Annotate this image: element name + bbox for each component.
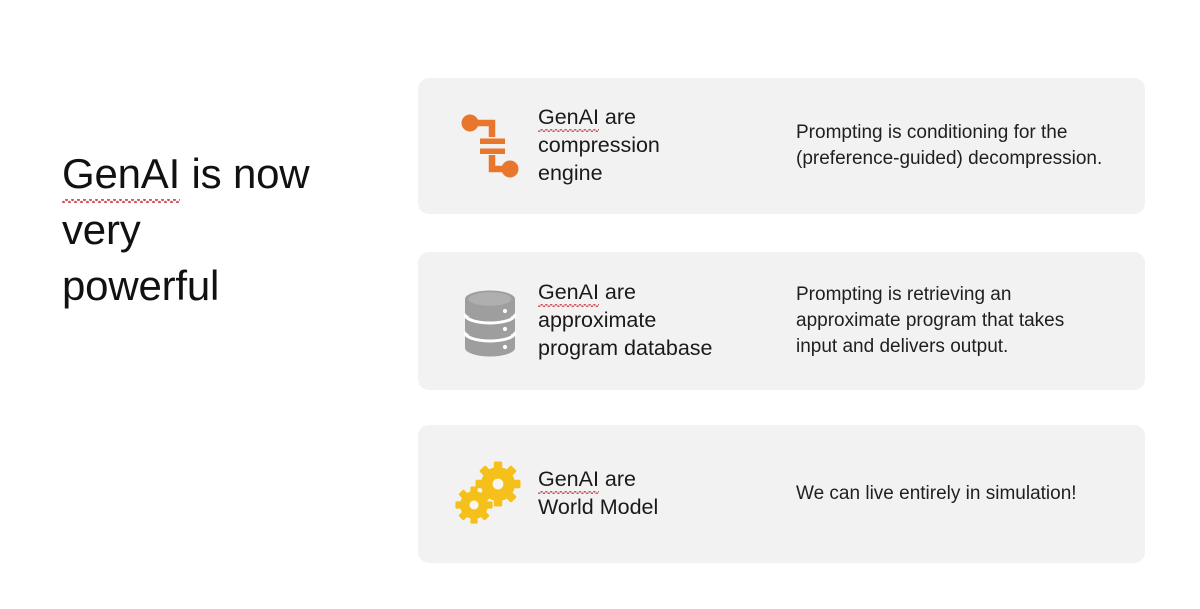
page-title-spellchecked-word: GenAI (62, 146, 180, 202)
card-heading: GenAI are approximate program database (538, 279, 796, 363)
card-world-model[interactable]: GenAI are World Model We can live entire… (418, 425, 1145, 563)
card-icon-slot (418, 112, 538, 180)
card-heading-spellchecked-word: GenAI (538, 466, 599, 494)
card-heading: GenAI are compression engine (538, 104, 796, 188)
card-heading-spellchecked-word: GenAI (538, 279, 599, 307)
card-heading-spellchecked-word: GenAI (538, 104, 599, 132)
card-body: We can live entirely in simulation! (796, 481, 1145, 507)
slide-canvas: GenAI is now very powerful GenAI are com… (0, 0, 1200, 609)
card-icon-slot (418, 458, 538, 530)
card-body: Prompting is conditioning for the (prefe… (796, 120, 1145, 172)
card-program-database[interactable]: GenAI are approximate program database P… (418, 252, 1145, 390)
page-title: GenAI is now very powerful (62, 146, 392, 314)
card-icon-slot (418, 285, 538, 357)
card-compression-engine[interactable]: GenAI are compression engine Prompting i… (418, 78, 1145, 214)
gears-icon (454, 458, 526, 530)
page-title-block: GenAI is now very powerful (62, 146, 392, 314)
card-body: Prompting is retrieving an approximate p… (796, 282, 1145, 361)
card-heading: GenAI are World Model (538, 466, 796, 522)
compression-engine-icon (459, 112, 521, 180)
database-icon (461, 285, 519, 357)
